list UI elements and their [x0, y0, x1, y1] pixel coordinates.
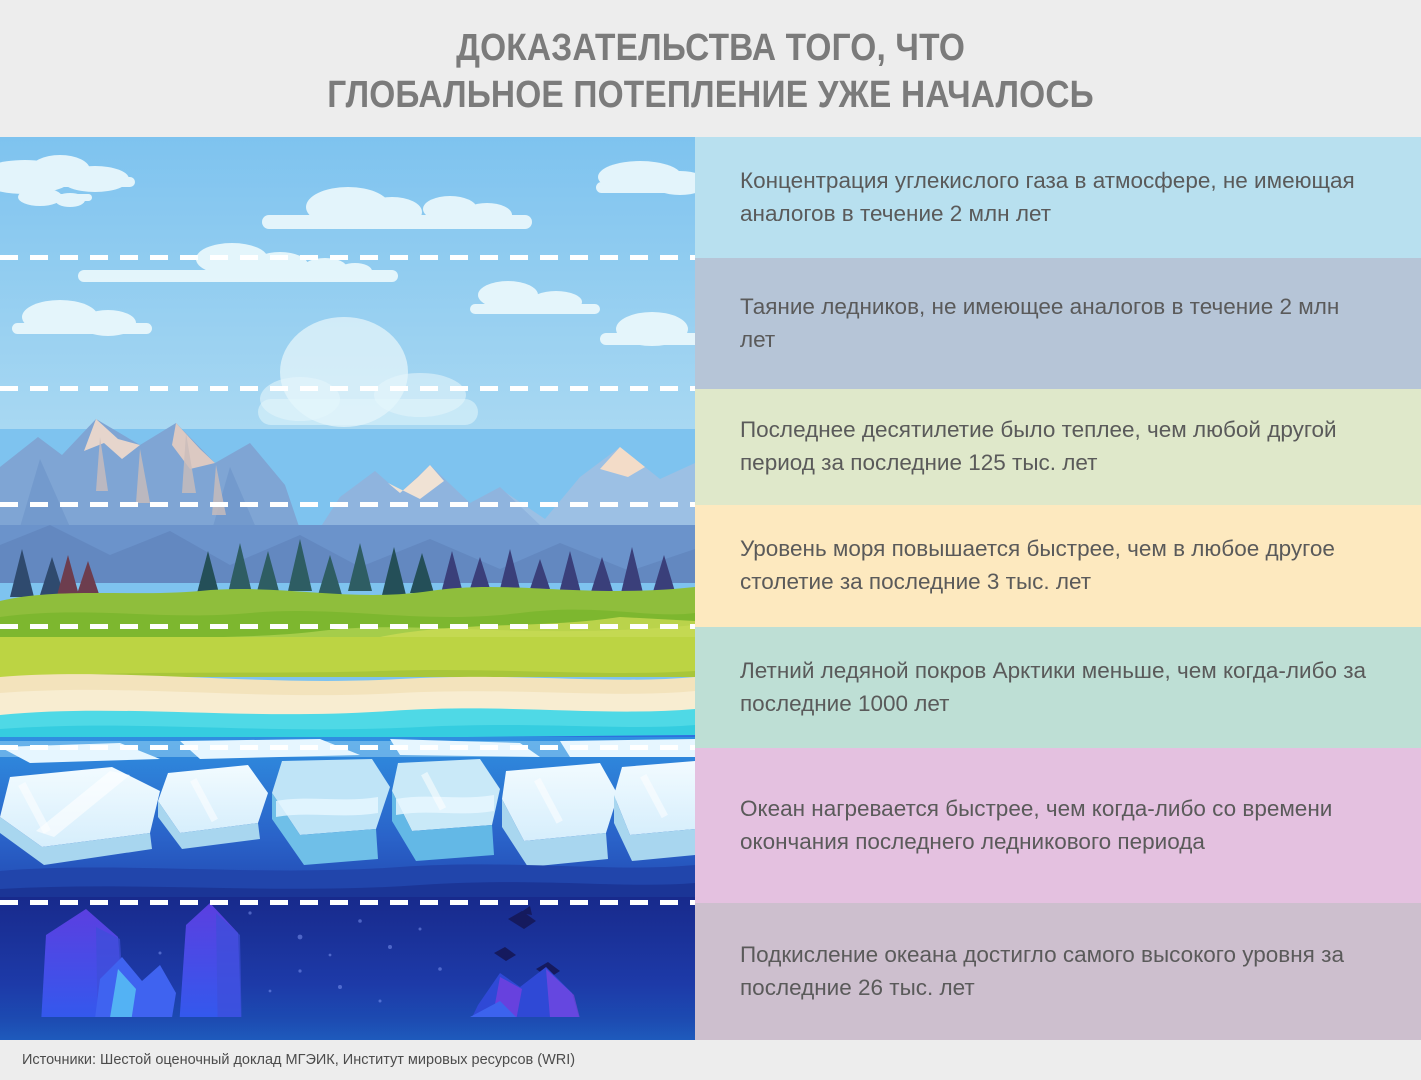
evidence-text: Последнее десятилетие было теплее, чем л…	[695, 414, 1421, 479]
divider-dashed-3	[0, 502, 695, 507]
ocean-floor-layer	[0, 1017, 695, 1040]
infographic-page: ДОКАЗАТЕЛЬСТВА ТОГО, ЧТО ГЛОБАЛЬНОЕ ПОТЕ…	[0, 0, 1421, 1080]
evidence-row-sea-level-rise[interactable]: Уровень моря повышается быстрее, чем в л…	[695, 505, 1421, 627]
header: ДОКАЗАТЕЛЬСТВА ТОГО, ЧТО ГЛОБАЛЬНОЕ ПОТЕ…	[0, 0, 1421, 137]
evidence-text: Концентрация углекислого газа в атмосфер…	[695, 165, 1421, 230]
evidence-row-glacier-melting[interactable]: Таяние ледников, не имеющее аналогов в т…	[695, 258, 1421, 389]
evidence-row-warmest-decade[interactable]: Последнее десятилетие было теплее, чем л…	[695, 389, 1421, 505]
evidence-text: Уровень моря повышается быстрее, чем в л…	[695, 533, 1421, 598]
divider-dashed-2	[0, 386, 695, 391]
divider-dashed-1	[0, 255, 695, 260]
evidence-row-arctic-ice-cover[interactable]: Летний ледяной покров Арктики меньше, че…	[695, 627, 1421, 748]
sources-note: Источники: Шестой оценочный доклад МГЭИК…	[0, 1052, 575, 1068]
forest-hills-layer	[0, 525, 695, 655]
divider-dashed-6	[0, 900, 695, 905]
evidence-row-ocean-warming[interactable]: Океан нагревается быстрее, чем когда-либ…	[695, 748, 1421, 903]
content-area: Концентрация углекислого газа в атмосфер…	[0, 137, 1421, 1040]
sky-layer	[0, 137, 695, 427]
ice-floes-layer	[0, 737, 695, 917]
evidence-text: Океан нагревается быстрее, чем когда-либ…	[695, 793, 1421, 858]
evidence-text: Летний ледяной покров Арктики меньше, че…	[695, 655, 1421, 720]
evidence-row-co2[interactable]: Концентрация углекислого газа в атмосфер…	[695, 137, 1421, 258]
evidence-list: Концентрация углекислого газа в атмосфер…	[695, 137, 1421, 1040]
page-title: ДОКАЗАТЕЛЬСТВА ТОГО, ЧТО ГЛОБАЛЬНОЕ ПОТЕ…	[327, 19, 1094, 118]
divider-dashed-4	[0, 624, 695, 629]
divider-dashed-5	[0, 745, 695, 750]
footer: Источники: Шестой оценочный доклад МГЭИК…	[0, 1040, 1421, 1080]
evidence-text: Подкисление океана достигло самого высок…	[695, 939, 1421, 1004]
evidence-text: Таяние ледников, не имеющее аналогов в т…	[695, 291, 1421, 356]
evidence-row-ocean-acidification[interactable]: Подкисление океана достигло самого высок…	[695, 903, 1421, 1040]
climate-illustration	[0, 137, 695, 1040]
